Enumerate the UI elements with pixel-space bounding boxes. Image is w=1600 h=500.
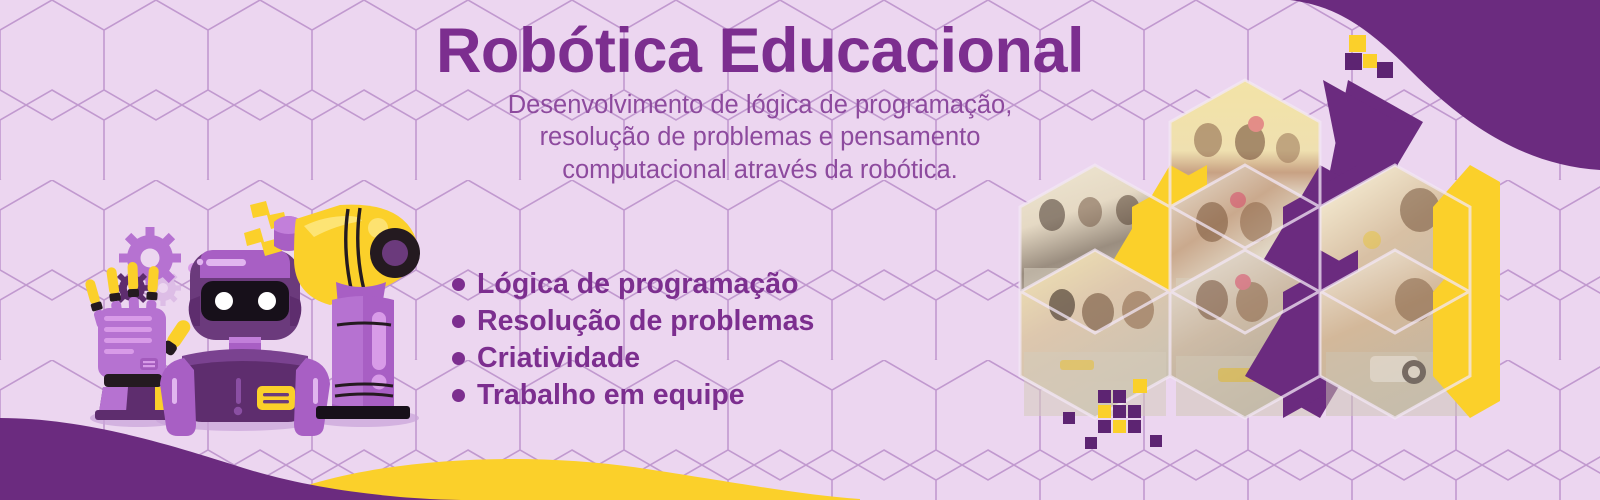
subtitle-line-3: computacional através da robótica. bbox=[562, 156, 957, 184]
page-title: Robótica Educacional bbox=[400, 20, 1120, 83]
list-item: Criatividade bbox=[452, 340, 814, 377]
list-item: Trabalho em equipe bbox=[452, 377, 814, 414]
bullet-icon bbox=[452, 389, 465, 402]
list-item: Lógica de programação bbox=[452, 266, 814, 303]
subtitle-line-1: Desenvolvimento de lógica de programação… bbox=[508, 91, 1013, 119]
subtitle: Desenvolvimento de lógica de programação… bbox=[400, 89, 1120, 186]
text-block: Robótica Educacional Desenvolvimento de … bbox=[400, 20, 1120, 440]
subtitle-line-2: resolução de problemas e pensamento bbox=[540, 123, 981, 151]
feature-label: Criatividade bbox=[477, 342, 640, 375]
feature-label: Lógica de programação bbox=[477, 268, 799, 301]
bullet-icon bbox=[452, 278, 465, 291]
banner-root: Robótica Educacional Desenvolvimento de … bbox=[0, 0, 1600, 500]
bullet-icon bbox=[452, 315, 465, 328]
feature-label: Resolução de problemas bbox=[477, 305, 814, 338]
feature-list: Lógica de programação Resolução de probl… bbox=[452, 266, 814, 414]
feature-label: Trabalho em equipe bbox=[477, 379, 745, 412]
bullet-icon bbox=[452, 352, 465, 365]
list-item: Resolução de problemas bbox=[452, 303, 814, 340]
